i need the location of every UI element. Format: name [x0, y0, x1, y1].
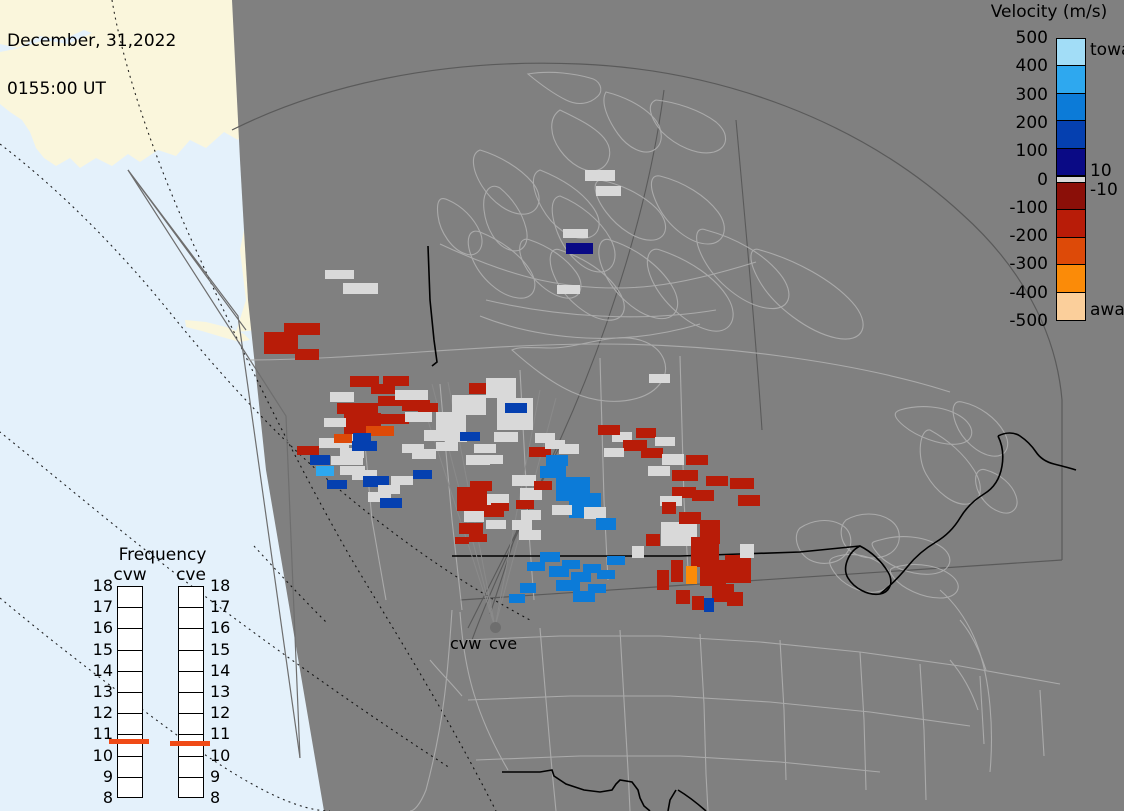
frequency-scale-cvw-10: 10 [89, 748, 113, 764]
frequency-gauge-cell [179, 608, 203, 629]
radar-station-dot [490, 622, 501, 633]
frequency-scale-cvw-15: 15 [89, 642, 113, 658]
frequency-gauge-cell [118, 587, 142, 608]
frequency-gauge-cell [179, 778, 203, 799]
frequency-scale-cve-18: 18 [210, 578, 234, 594]
timestamp-overlay: December, 31,2022 0155:00 UT [7, 1, 176, 129]
frequency-scale-cve-13: 13 [210, 684, 234, 700]
colorbar-tick-500: 500 [1016, 30, 1048, 47]
frequency-gauge-cell [118, 693, 142, 714]
frequency-scale-cvw-9: 9 [89, 769, 113, 785]
frequency-gauge-cell [179, 651, 203, 672]
frequency-panel: Frequency cvw18171615141312111098cve1817… [75, 545, 250, 810]
frequency-scale-cvw-17: 17 [89, 599, 113, 615]
frequency-gauge-cell [118, 778, 142, 799]
frequency-scale-cve-12: 12 [210, 705, 234, 721]
frequency-gauge-cvw[interactable] [117, 586, 143, 798]
frequency-scale-cve-8: 8 [210, 790, 234, 806]
timestamp-date: December, 31,2022 [7, 33, 176, 49]
cb-seg-away-200-300 [1057, 238, 1085, 265]
cb-seg-away-400-500 [1057, 293, 1085, 320]
cb-seg-zero-band [1057, 176, 1085, 183]
cb-seg-away-10-100 [1057, 183, 1085, 210]
frequency-title: Frequency [75, 545, 250, 565]
colorbar-toward-label: toward [1090, 42, 1124, 59]
cb-seg-away-300-400 [1057, 265, 1085, 292]
frequency-gauge-cell [179, 757, 203, 778]
frequency-gauge-cell [118, 714, 142, 735]
frequency-scale-cvw-11: 11 [89, 726, 113, 742]
colorbar-away-label: away [1090, 302, 1124, 319]
colorbar-gradient [1056, 38, 1086, 321]
frequency-gauge-cell [118, 608, 142, 629]
station-label-cvw: cvw [450, 634, 481, 653]
colorbar-lower-inner-label: -10 [1090, 182, 1118, 199]
frequency-scale-cvw-16: 16 [89, 620, 113, 636]
frequency-scale-cve-14: 14 [210, 663, 234, 679]
frequency-gauge-cell [118, 672, 142, 693]
frequency-gauge-cell [179, 693, 203, 714]
frequency-gauge-cell [179, 629, 203, 650]
frequency-scale-cvw-14: 14 [89, 663, 113, 679]
station-label-cve: cve [489, 634, 517, 653]
frequency-gauge-cell [179, 735, 203, 756]
frequency-gauge-cell [118, 757, 142, 778]
velocity-colorbar-panel: Velocity (m/s) 5004003002001000-100-200-… [960, 0, 1124, 340]
frequency-gauge-cell [179, 714, 203, 735]
frequency-scale-cve-17: 17 [210, 599, 234, 615]
frequency-scale-cvw-13: 13 [89, 684, 113, 700]
frequency-scale-cvw-12: 12 [89, 705, 113, 721]
cb-seg-toward-400-300 [1057, 66, 1085, 93]
frequency-marker-cvw [109, 739, 149, 744]
colorbar-tick-100: 100 [1016, 143, 1048, 160]
cb-seg-toward-300-200 [1057, 94, 1085, 121]
colorbar-tick-neg500: -500 [1009, 313, 1048, 330]
frequency-scale-cve-9: 9 [210, 769, 234, 785]
colorbar-tick-300: 300 [1016, 87, 1048, 104]
colorbar-title: Velocity (m/s) [974, 2, 1124, 22]
colorbar-tick-200: 200 [1016, 115, 1048, 132]
frequency-gauge-cell [118, 651, 142, 672]
cb-seg-away-100-200 [1057, 210, 1085, 237]
colorbar-tick-neg400: -400 [1009, 285, 1048, 302]
frequency-scale-cve-15: 15 [210, 642, 234, 658]
screenshot-root: December, 31,2022 0155:00 UT Velocity (m… [0, 0, 1124, 811]
frequency-gauge-cve[interactable] [178, 586, 204, 798]
colorbar-tick-neg200: -200 [1009, 228, 1048, 245]
cb-seg-toward-200-100 [1057, 121, 1085, 148]
cb-seg-toward-100-10 [1057, 149, 1085, 176]
frequency-marker-cve [170, 741, 210, 746]
cb-seg-toward-500-400 [1057, 39, 1085, 66]
frequency-scale-cvw-18: 18 [89, 578, 113, 594]
colorbar-tick-400: 400 [1016, 58, 1048, 75]
frequency-scale-cve-10: 10 [210, 748, 234, 764]
frequency-gauge-cell [179, 587, 203, 608]
colorbar-tick-0: 0 [1037, 172, 1048, 189]
frequency-gauge-cell [179, 672, 203, 693]
frequency-scale-cve-16: 16 [210, 620, 234, 636]
colorbar-tick-neg100: -100 [1009, 200, 1048, 217]
colorbar-upper-inner-label: 10 [1090, 163, 1112, 180]
frequency-gauge-cell [118, 629, 142, 650]
frequency-scale-cvw-8: 8 [89, 790, 113, 806]
timestamp-time: 0155:00 UT [7, 81, 176, 97]
colorbar-tick-neg300: -300 [1009, 256, 1048, 273]
frequency-scale-cve-11: 11 [210, 726, 234, 742]
